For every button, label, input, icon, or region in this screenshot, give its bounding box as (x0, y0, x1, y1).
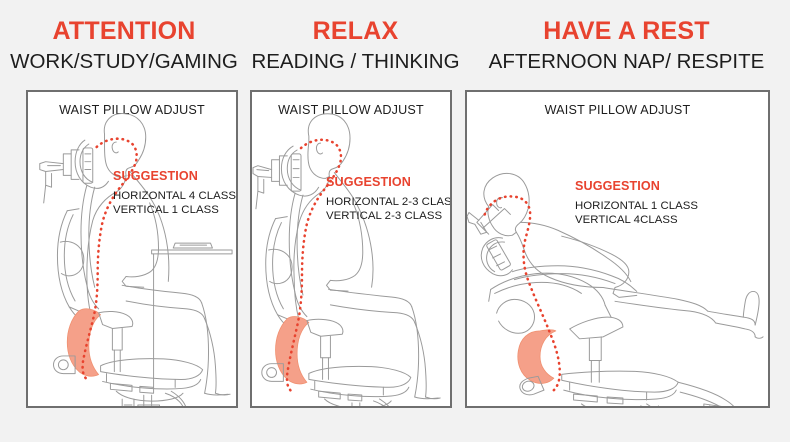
column-subtitle: AFTERNOON NAP/ RESPITE (463, 50, 790, 74)
illustration-panel-relax: WAIST PILLOW ADJUST (250, 90, 452, 408)
chair-illustration-reclined (252, 92, 450, 406)
column-attention: ATTENTION WORK/STUDY/GAMING WAIST PILLOW… (0, 0, 248, 442)
suggestion-horizontal: HORIZONTAL 4 CLASS (113, 190, 236, 204)
suggestion-block: SUGGESTION HORIZONTAL 2-3 CLASS VERTICAL… (326, 176, 452, 224)
suggestion-block: SUGGESTION HORIZONTAL 4 CLASS VERTICAL 1… (113, 170, 236, 218)
suggestion-horizontal: HORIZONTAL 2-3 CLASS (326, 196, 452, 210)
column-header-attention: ATTENTION WORK/STUDY/GAMING (0, 0, 248, 74)
suggestion-heading: SUGGESTION (113, 170, 236, 184)
suggestion-block: SUGGESTION HORIZONTAL 1 CLASS VERTICAL 4… (575, 180, 698, 228)
suggestion-heading: SUGGESTION (575, 180, 698, 194)
suggestion-heading: SUGGESTION (326, 176, 452, 190)
column-title: ATTENTION (0, 17, 248, 45)
column-title: HAVE A REST (463, 17, 790, 45)
column-header-relax: RELAX READING / THINKING (248, 0, 463, 74)
illustration-panel-have-a-rest: WAIST PILLOW ADJUST (465, 90, 770, 408)
suggestion-vertical: VERTICAL 2-3 CLASS (326, 210, 452, 224)
column-have-a-rest: HAVE A REST AFTERNOON NAP/ RESPITE WAIST… (463, 0, 790, 442)
infographic-board: ATTENTION WORK/STUDY/GAMING WAIST PILLOW… (0, 0, 790, 442)
suggestion-vertical: VERTICAL 4CLASS (575, 214, 698, 228)
column-title: RELAX (248, 17, 463, 45)
chair-illustration-upright (28, 92, 236, 406)
column-subtitle: READING / THINKING (248, 50, 463, 74)
column-header-have-a-rest: HAVE A REST AFTERNOON NAP/ RESPITE (463, 0, 790, 74)
suggestion-vertical: VERTICAL 1 CLASS (113, 204, 236, 218)
illustration-panel-attention: WAIST PILLOW ADJUST (26, 90, 238, 408)
column-subtitle: WORK/STUDY/GAMING (0, 50, 248, 74)
chair-illustration-fully-reclined (467, 92, 768, 406)
column-relax: RELAX READING / THINKING WAIST PILLOW AD… (248, 0, 463, 442)
suggestion-horizontal: HORIZONTAL 1 CLASS (575, 200, 698, 214)
